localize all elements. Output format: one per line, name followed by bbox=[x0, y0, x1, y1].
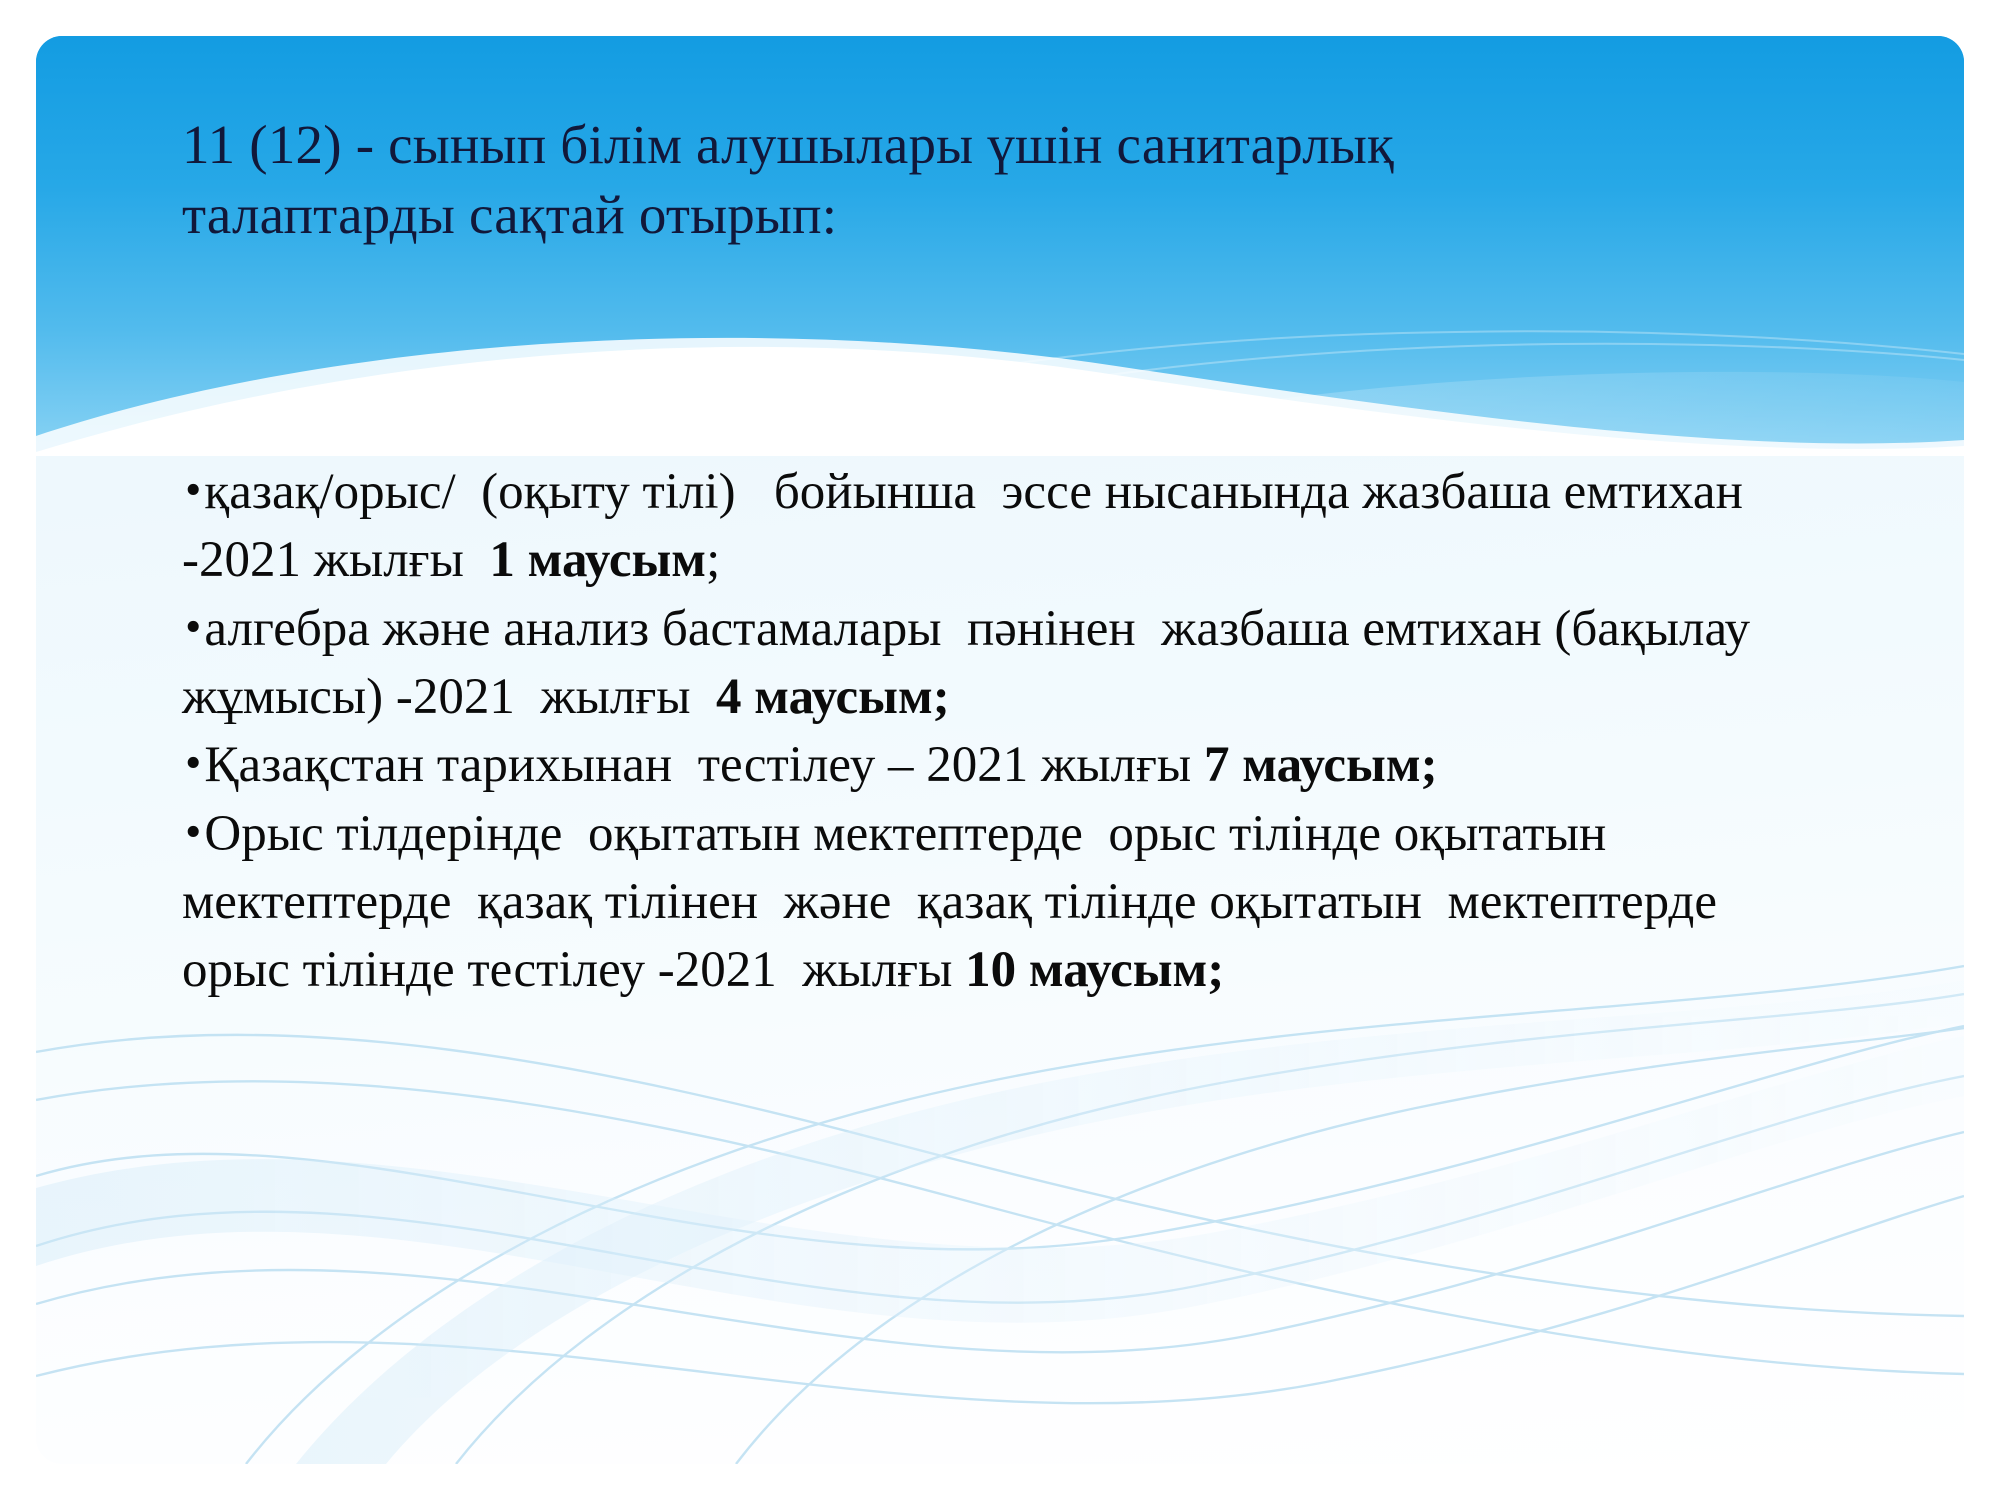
slide-title-line-1: 11 (12) - сынып білім алушылары үшін сан… bbox=[182, 110, 1742, 180]
bullet-emphasis-text: 4 маусым; bbox=[716, 669, 950, 725]
slide-header-band: 11 (12) - сынып білім алушылары үшін сан… bbox=[36, 36, 1964, 456]
slide-title-line-2: талаптарды сақтай отырып: bbox=[182, 180, 1742, 250]
bullet-text: ; bbox=[706, 532, 720, 588]
bullet-emphasis-text: 10 маусым; bbox=[965, 942, 1224, 998]
bullet-item: •Қазақстан тарихынан тестілеу – 2021 жыл… bbox=[182, 731, 1792, 799]
bullet-item: •қазақ/орыс/ (оқыту тілі) бойынша эссе н… bbox=[182, 458, 1792, 595]
slide-content-card: 11 (12) - сынып білім алушылары үшін сан… bbox=[36, 36, 1964, 1464]
slide-body: •қазақ/орыс/ (оқыту тілі) бойынша эссе н… bbox=[182, 458, 1792, 1005]
slide-title: 11 (12) - сынып білім алушылары үшін сан… bbox=[182, 110, 1742, 251]
bullet-marker-icon: • bbox=[182, 468, 204, 512]
bullet-text: Қазақстан тарихынан тестілеу – 2021 жылғ… bbox=[204, 737, 1204, 793]
bullet-marker-icon: • bbox=[182, 605, 204, 649]
slide-canvas: 11 (12) - сынып білім алушылары үшін сан… bbox=[0, 0, 2000, 1500]
bullet-marker-icon: • bbox=[182, 742, 204, 786]
bullet-emphasis-text: 7 маусым; bbox=[1204, 737, 1438, 793]
bullet-item: •Орыс тілдерінде оқытатын мектептерде ор… bbox=[182, 800, 1792, 1005]
bullet-item: •алгебра және анализ бастамалары пәнінен… bbox=[182, 595, 1792, 732]
bullet-list: •қазақ/орыс/ (оқыту тілі) бойынша эссе н… bbox=[182, 458, 1792, 1005]
bullet-text: Орыс тілдерінде оқытатын мектептерде оры… bbox=[182, 806, 1730, 999]
bullet-text: қазақ/орыс/ (оқыту тілі) бойынша эссе ны… bbox=[182, 464, 1768, 588]
bullet-emphasis-text: 1 маусым bbox=[489, 532, 706, 588]
bullet-text: алгебра және анализ бастамалары пәнінен … bbox=[182, 601, 1776, 725]
bullet-marker-icon: • bbox=[182, 810, 204, 854]
